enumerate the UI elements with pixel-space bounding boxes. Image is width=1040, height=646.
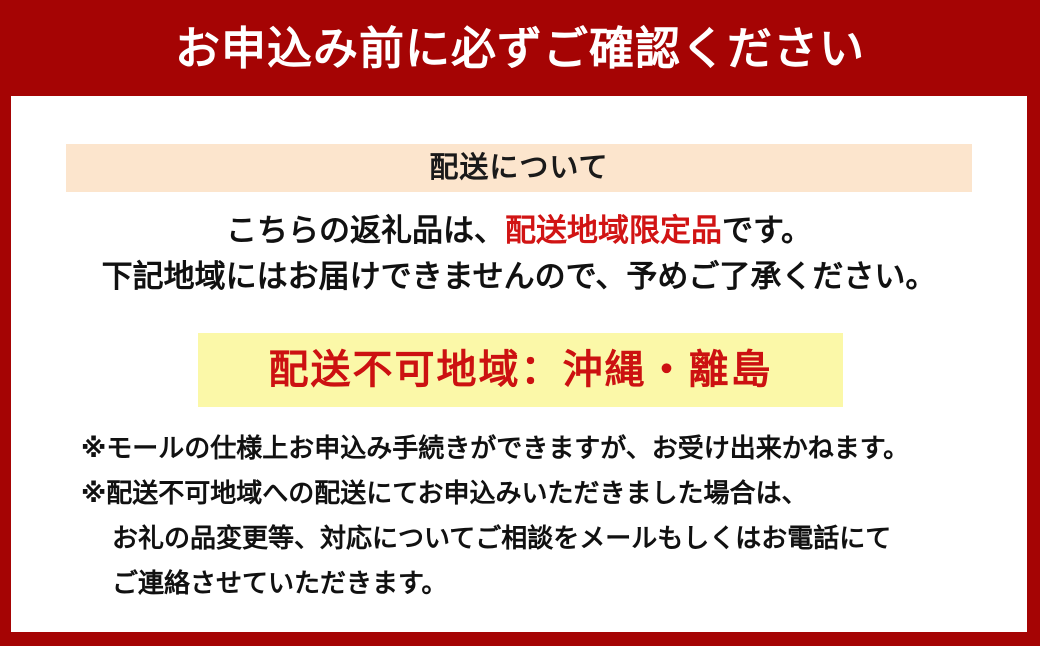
lead-line-1-emphasis: 配送地域限定品	[505, 213, 722, 248]
restricted-area-highlight-band: 配送不可地域：沖縄・離島	[198, 333, 843, 407]
lead-paragraph: こちらの返礼品は、配送地域限定品です。 下記地域にはお届けできませんので、予めご…	[11, 208, 1027, 300]
page-title: お申込み前に必ずご確認ください	[175, 26, 865, 71]
delivery-notice-banner: お申込み前に必ずご確認ください 配送について こちらの返礼品は、配送地域限定品で…	[0, 0, 1040, 646]
section-heading-band: 配送について	[66, 144, 972, 192]
note-line: ご連絡させていただきます。	[81, 561, 1011, 606]
lead-line-2: 下記地域にはお届けできませんので、予めご了承ください。	[11, 254, 1027, 300]
section-heading-label: 配送について	[429, 154, 608, 183]
lead-line-1-prefix: こちらの返礼品は、	[226, 213, 505, 248]
note-line: お礼の品変更等、対応についてご相談をメールもしくはお電話にて	[81, 516, 1011, 561]
lead-line-1: こちらの返礼品は、配送地域限定品です。	[11, 208, 1027, 254]
notes-list: ※モールの仕様上お申込み手続きができますが、お受け出来かねます。 ※配送不可地域…	[81, 426, 1011, 606]
note-line: ※モールの仕様上お申込み手続きができますが、お受け出来かねます。	[81, 426, 1011, 471]
banner-header: お申込み前に必ずご確認ください	[0, 0, 1040, 96]
banner-content: 配送について こちらの返礼品は、配送地域限定品です。 下記地域にはお届けできませ…	[11, 96, 1027, 632]
restricted-area-label: 配送不可地域：沖縄・離島	[269, 350, 773, 390]
note-line: ※配送不可地域への配送にてお申込みいただきました場合は、	[81, 471, 1011, 516]
lead-line-1-suffix: です。	[722, 213, 812, 248]
